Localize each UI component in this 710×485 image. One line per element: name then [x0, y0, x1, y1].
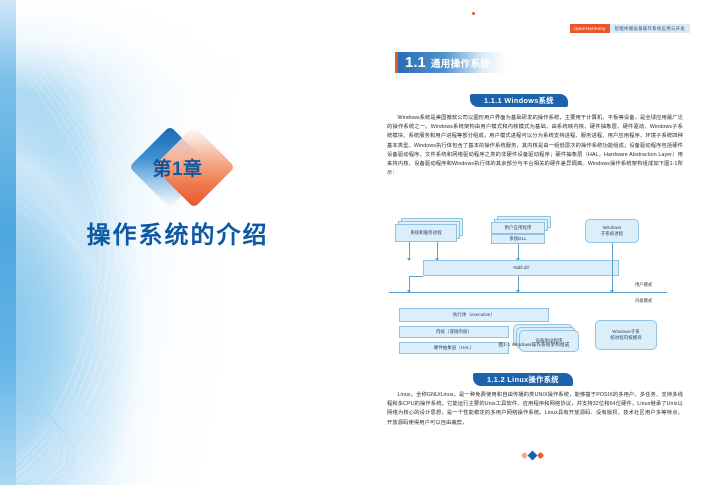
- box-ntdll: Ntdll.dll: [423, 260, 619, 276]
- ornament-right-diamond-icon: [537, 452, 544, 459]
- section-heading-dot: [472, 12, 475, 15]
- label-kernel-mode: 内核模式: [635, 298, 652, 304]
- paragraph-linux: Linux，全称GNU/Linux，是一种免费使用和自由传播的类UNIX操作系统…: [387, 391, 683, 428]
- arrow-down: [437, 242, 438, 260]
- ornament-center-diamond-icon: [528, 451, 538, 461]
- running-head: OpenHarmony 智能终端设备操作系统应用与开发: [570, 24, 690, 33]
- section-title: 通用操作系统: [431, 54, 490, 75]
- box-system-service-process: 系统和服务进程: [395, 224, 457, 242]
- box-windows-subsystem-process: Windows 子系统进程: [585, 219, 639, 243]
- label-user-mode: 用户模式: [635, 282, 652, 288]
- subsection-heading-windows: 1.1.1 Windows系统: [470, 94, 568, 107]
- arrow-down: [409, 242, 410, 260]
- arrow-down: [612, 243, 613, 292]
- box-device-drivers: 设备驱动程序: [519, 330, 579, 352]
- paragraph-windows: Windows系统是美国微软公司以图形用户界面为基础研发的操作系统，主要用于计算…: [387, 114, 683, 178]
- chapter-title: 操作系统的介绍: [0, 215, 355, 250]
- arrow-down: [518, 276, 519, 292]
- page-footer-ornament: [355, 452, 710, 459]
- section-number: 1.1: [405, 52, 426, 73]
- left-page-chapter-opener: OPERATING 第1章 操作系统的介绍: [0, 0, 355, 485]
- book-spread: OPERATING 第1章 操作系统的介绍 OpenHarmony 智能终端设备…: [0, 0, 710, 485]
- chapter-diamond-badge: 第1章: [103, 125, 253, 209]
- arrow-down: [409, 276, 410, 292]
- right-page-content: OpenHarmony 智能终端设备操作系统应用与开发 1.1 通用操作系统 1…: [355, 0, 710, 485]
- box-user-applications: 用户应用程序: [491, 222, 545, 234]
- figure-caption: 图1-1 Windows操作系统架构组成: [389, 342, 679, 348]
- figure-windows-architecture: 系统和服务进程 用户应用程序 系统DLL Windows 子系统进程 Ntdll…: [389, 216, 679, 361]
- chapter-opener-block: 第1章 操作系统的介绍: [0, 125, 355, 250]
- running-head-title: 智能终端设备操作系统应用与开发: [610, 24, 690, 33]
- section-heading-body: 1.1 通用操作系统: [398, 52, 506, 73]
- running-head-badge: OpenHarmony: [570, 24, 610, 33]
- box-system-dll: 系统DLL: [491, 234, 545, 244]
- user-kernel-divider: [389, 292, 667, 293]
- subsection-heading-linux: 1.1.2 Linux操作系统: [473, 373, 573, 386]
- section-heading: 1.1 通用操作系统: [395, 52, 506, 73]
- chapter-number: 第1章: [103, 125, 253, 209]
- connector-line: [409, 276, 423, 277]
- box-kernel: 内核（或微内核）: [399, 326, 509, 338]
- box-executive: 执行体（executive）: [399, 308, 549, 322]
- arrow-down: [518, 244, 519, 260]
